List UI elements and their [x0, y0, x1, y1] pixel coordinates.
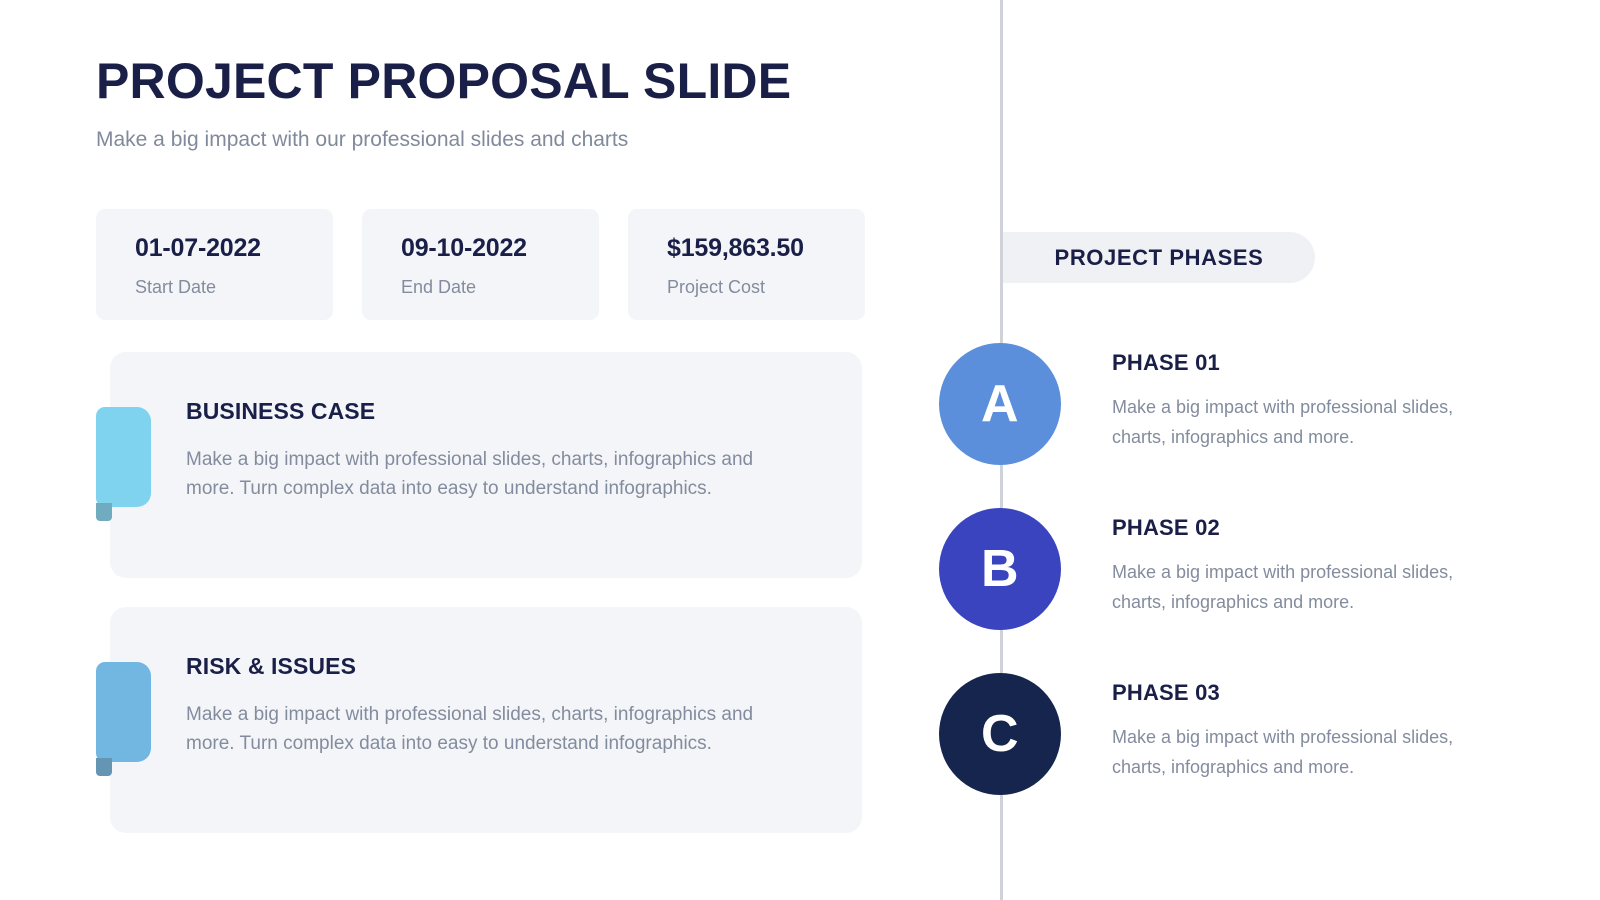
page-subtitle: Make a big impact with our professional … — [96, 109, 896, 153]
phase-circle-c[interactable]: C — [939, 673, 1061, 795]
stat-label: Start Date — [135, 263, 333, 299]
phase-description: Make a big impact with professional slid… — [1112, 541, 1492, 616]
phase-title: PHASE 01 — [1112, 350, 1492, 376]
ribbon-tab-icon — [96, 407, 151, 507]
phase-text-block: PHASE 02 Make a big impact with professi… — [1112, 515, 1492, 617]
stat-label: End Date — [401, 263, 599, 299]
phase-title: PHASE 02 — [1112, 515, 1492, 541]
stat-card-start-date[interactable]: 01-07-2022 Start Date — [96, 209, 333, 320]
stat-label: Project Cost — [667, 263, 865, 299]
phase-text-block: PHASE 01 Make a big impact with professi… — [1112, 350, 1492, 452]
stat-value: 01-07-2022 — [135, 233, 333, 263]
stats-row: 01-07-2022 Start Date 09-10-2022 End Dat… — [96, 209, 865, 320]
info-card-body: RISK & ISSUES Make a big impact with pro… — [110, 607, 862, 759]
info-card-body: BUSINESS CASE Make a big impact with pro… — [110, 352, 862, 504]
phase-circle-a[interactable]: A — [939, 343, 1061, 465]
slide-canvas: PROJECT PROPOSAL SLIDE Make a big impact… — [0, 0, 1600, 900]
phase-description: Make a big impact with professional slid… — [1112, 376, 1492, 451]
ribbon-notch-icon — [96, 758, 112, 776]
info-card-title: RISK & ISSUES — [186, 653, 862, 681]
info-card-title: BUSINESS CASE — [186, 398, 862, 426]
phase-letter: A — [981, 378, 1019, 430]
page-title: PROJECT PROPOSAL SLIDE — [96, 0, 896, 109]
info-card-text: Make a big impact with professional slid… — [186, 681, 796, 759]
phase-title: PHASE 03 — [1112, 680, 1492, 706]
info-card-text: Make a big impact with professional slid… — [186, 426, 796, 504]
phase-circle-b[interactable]: B — [939, 508, 1061, 630]
phase-letter: B — [981, 543, 1019, 595]
project-phases-heading-pill: PROJECT PHASES — [1003, 232, 1315, 283]
phase-text-block: PHASE 03 Make a big impact with professi… — [1112, 680, 1492, 782]
info-card-risk-issues[interactable]: RISK & ISSUES Make a big impact with pro… — [110, 607, 862, 833]
stat-value: 09-10-2022 — [401, 233, 599, 263]
stat-value: $159,863.50 — [667, 233, 865, 263]
stat-card-project-cost[interactable]: $159,863.50 Project Cost — [628, 209, 865, 320]
ribbon-notch-icon — [96, 503, 112, 521]
project-phases-heading-label: PROJECT PHASES — [1055, 245, 1264, 271]
info-card-business-case[interactable]: BUSINESS CASE Make a big impact with pro… — [110, 352, 862, 578]
phase-letter: C — [981, 708, 1019, 760]
header-block: PROJECT PROPOSAL SLIDE Make a big impact… — [96, 0, 896, 153]
phase-description: Make a big impact with professional slid… — [1112, 706, 1492, 781]
ribbon-tab-icon — [96, 662, 151, 762]
stat-card-end-date[interactable]: 09-10-2022 End Date — [362, 209, 599, 320]
